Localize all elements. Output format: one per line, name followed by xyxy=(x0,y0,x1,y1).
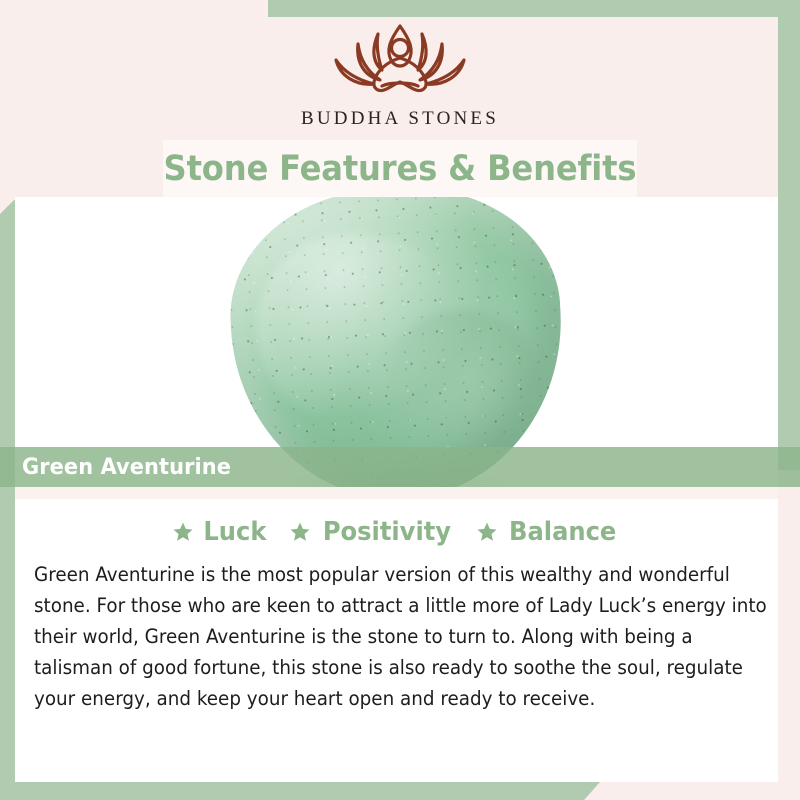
page-title: Stone Features & Benefits xyxy=(164,149,637,189)
divider-strip xyxy=(15,487,778,499)
stone-name-label: Green Aventurine xyxy=(22,455,231,480)
benefit-label: Luck xyxy=(204,517,267,547)
frame-accent-bottom xyxy=(0,782,600,800)
benefits-row: Luck Positivity Balance xyxy=(15,517,778,547)
star-icon xyxy=(476,521,498,543)
benefit-label: Balance xyxy=(509,517,616,547)
stone-speckles xyxy=(224,197,570,487)
benefit-item-luck: Luck xyxy=(172,517,269,547)
benefit-item-positivity: Positivity xyxy=(289,517,456,547)
stone-name-bar: Green Aventurine xyxy=(0,447,800,487)
lotus-meditating-figure-icon xyxy=(312,18,488,106)
benefit-label: Positivity xyxy=(323,517,451,547)
star-icon xyxy=(289,521,311,543)
stone-photo xyxy=(15,197,778,487)
description-panel: Luck Positivity Balance Green xyxy=(15,499,778,782)
infographic-canvas: BUDDHA STONES Stone Features & Benefits … xyxy=(0,0,800,800)
description-paragraph: Green Aventurine is the most popular ver… xyxy=(34,559,777,714)
brand-name: BUDDHA STONES xyxy=(301,108,499,130)
frame-accent-top xyxy=(268,0,800,17)
stone-image xyxy=(232,197,562,487)
star-icon xyxy=(172,521,194,543)
stone-body xyxy=(224,197,570,487)
title-banner: Stone Features & Benefits xyxy=(163,140,637,198)
frame-accent-left xyxy=(0,200,15,800)
benefit-item-balance: Balance xyxy=(476,517,620,547)
brand-header: BUDDHA STONES xyxy=(0,18,800,142)
